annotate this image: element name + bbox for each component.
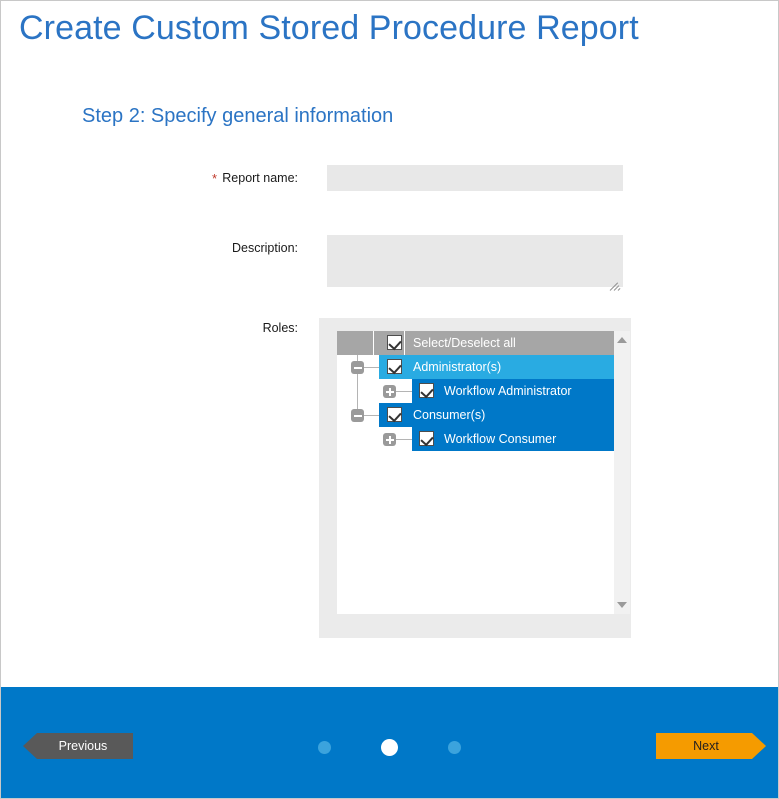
roles-panel: Select/Deselect all Administrator(s)	[319, 318, 631, 638]
description-textarea[interactable]	[327, 235, 623, 287]
expander-minus-icon[interactable]	[351, 361, 364, 374]
required-asterisk-icon: *	[212, 172, 217, 185]
wizard-footer: Previous Next	[1, 687, 778, 798]
expander-minus-icon[interactable]	[351, 409, 364, 422]
row-checkbox[interactable]	[419, 383, 434, 398]
tree-row[interactable]: Workflow Administrator	[337, 379, 614, 403]
tree-row[interactable]: Consumer(s)	[337, 403, 614, 427]
roles-label: Roles:	[263, 321, 298, 335]
select-all-checkbox[interactable]	[387, 335, 402, 350]
wizard-window: Create Custom Stored Procedure Report St…	[0, 0, 779, 799]
select-all-label: Select/Deselect all	[413, 331, 516, 355]
row-checkbox[interactable]	[387, 359, 402, 374]
tree-header-row[interactable]: Select/Deselect all	[337, 331, 614, 355]
row-checkbox[interactable]	[387, 407, 402, 422]
tree-row[interactable]: Workflow Consumer	[337, 427, 614, 451]
tree-row-label: Workflow Administrator	[444, 379, 572, 403]
step-title: Step 2: Specify general information	[82, 105, 393, 128]
scroll-down-arrow-icon[interactable]	[617, 602, 627, 608]
roles-tree-scrollbar[interactable]	[614, 331, 630, 614]
step-dot-1[interactable]	[318, 741, 331, 754]
tree-row[interactable]: Administrator(s)	[337, 355, 614, 379]
step-dot-2[interactable]	[381, 739, 398, 756]
roles-tree[interactable]: Select/Deselect all Administrator(s)	[337, 331, 614, 614]
report-name-input[interactable]	[327, 165, 623, 191]
scroll-up-arrow-icon[interactable]	[617, 337, 627, 343]
report-name-label: Report name:	[222, 171, 298, 185]
expander-plus-icon[interactable]	[383, 385, 396, 398]
expander-plus-icon[interactable]	[383, 433, 396, 446]
description-label: Description:	[232, 241, 298, 255]
step-dot-3[interactable]	[448, 741, 461, 754]
row-checkbox[interactable]	[419, 431, 434, 446]
tree-row-label: Consumer(s)	[413, 403, 485, 427]
next-button[interactable]: Next	[656, 733, 766, 759]
tree-row-label: Workflow Consumer	[444, 427, 556, 451]
page-title: Create Custom Stored Procedure Report	[19, 9, 639, 48]
tree-row-label: Administrator(s)	[413, 355, 501, 379]
